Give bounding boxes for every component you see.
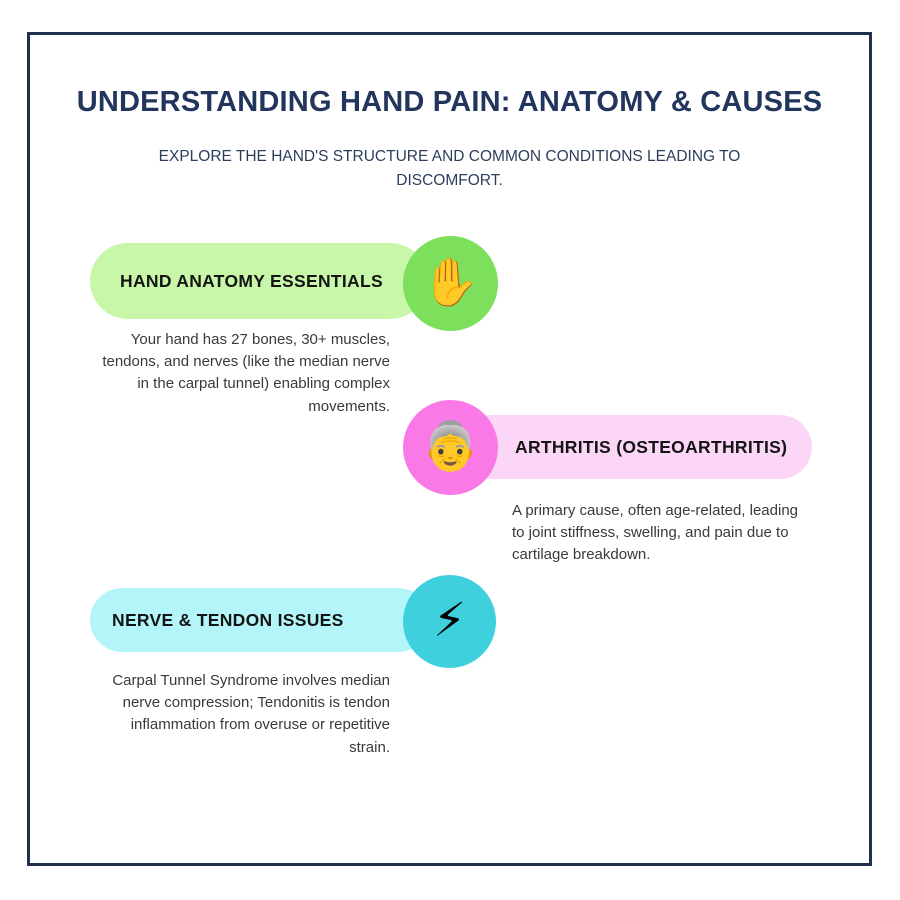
section-1-icon-bubble[interactable]: ✋ [403, 236, 498, 331]
page-subtitle: EXPLORE THE HAND'S STRUCTURE AND COMMON … [120, 145, 780, 193]
raised-hand-icon: ✋ [421, 259, 480, 306]
section-1-pill[interactable]: HAND ANATOMY ESSENTIALS [90, 243, 428, 319]
section-2-label: ARTHRITIS (OSTEOARTHRITIS) [515, 437, 787, 458]
section-3-icon-bubble[interactable]: ⚡ [403, 575, 496, 668]
page-title: UNDERSTANDING HAND PAIN: ANATOMY & CAUSE… [27, 86, 872, 119]
poster-header: UNDERSTANDING HAND PAIN: ANATOMY & CAUSE… [27, 86, 872, 193]
high-voltage-icon: ⚡ [433, 597, 466, 644]
infographic-poster: UNDERSTANDING HAND PAIN: ANATOMY & CAUSE… [0, 0, 900, 900]
section-2-body: A primary cause, often age-related, lead… [512, 500, 802, 567]
section-3-label: NERVE & TENDON ISSUES [112, 610, 344, 631]
section-1-label: HAND ANATOMY ESSENTIALS [120, 271, 383, 292]
section-3-pill[interactable]: NERVE & TENDON ISSUES [90, 588, 430, 652]
older-woman-icon: 👵 [421, 423, 480, 470]
section-3-body: Carpal Tunnel Syndrome involves median n… [100, 670, 390, 759]
section-1-body: Your hand has 27 bones, 30+ muscles, ten… [100, 329, 390, 418]
section-2-icon-bubble[interactable]: 👵 [403, 400, 498, 495]
